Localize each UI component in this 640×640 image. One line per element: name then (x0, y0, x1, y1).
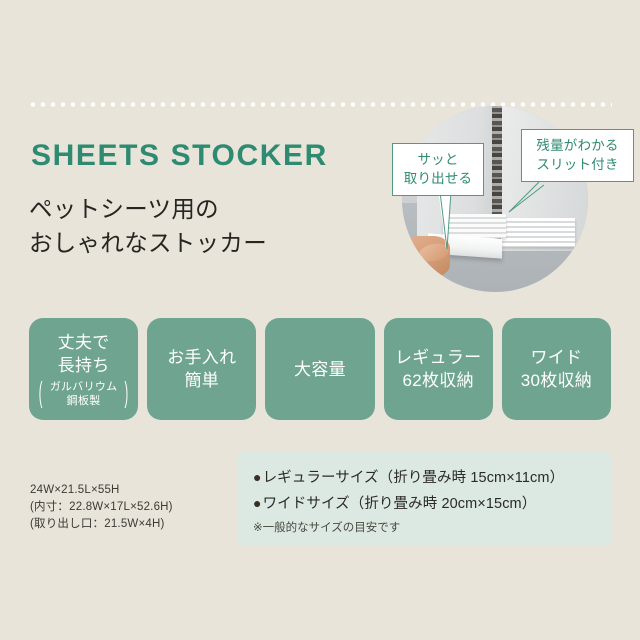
bullet-icon: ● (253, 495, 262, 511)
badge-wide-line-1: ワイド (530, 346, 582, 369)
subtitle-line-2: おしゃれなストッカー (29, 226, 267, 260)
subtitle-line-1: ペットシーツ用の (29, 192, 267, 226)
badge-wide-line-2: 30枚収納 (521, 369, 592, 392)
info-line-regular: ●レギュラーサイズ（折り畳み時 15cm×11cm） (253, 465, 611, 491)
callout-right-line-1: 残量がわかる (531, 136, 624, 155)
callout-right-line-2: スリット付き (531, 155, 624, 174)
info-note: ※一般的なサイズの目安です (253, 519, 611, 537)
badge-durable-line-1: 丈夫で (58, 331, 110, 354)
badge-large-capacity-line-1: 大容量 (294, 358, 346, 381)
product-banner: SHEETS STOCKER ペットシーツ用の おしゃれなストッカー サッと 取… (0, 0, 640, 640)
callout-quick-take-out: サッと 取り出せる (392, 143, 484, 196)
badge-regular-62: レギュラー 62枚収納 (384, 318, 493, 420)
page-subtitle: ペットシーツ用の おしゃれなストッカー (29, 192, 267, 260)
badge-durable-sub-line-1: ガルバリウム (50, 380, 118, 394)
size-info-panel: ●レギュラーサイズ（折り畳み時 15cm×11cm） ●ワイドサイズ（折り畳み時… (238, 452, 611, 545)
badge-easy-care: お手入れ 簡単 (147, 318, 256, 420)
callout-left-line-1: サッと (402, 150, 474, 169)
bullet-icon: ● (253, 469, 262, 485)
badge-durable-line-2: 長持ち (58, 354, 110, 377)
dimension-spec: 24W×21.5L×55H (内寸：22.8W×17L×52.6H) (取り出し… (30, 482, 173, 533)
badge-regular-line-1: レギュラー (395, 346, 482, 369)
feature-badge-row: 丈夫で 長持ち ガルバリウム 鋼板製 お手入れ 簡単 大容量 レギュラー 62枚… (29, 318, 611, 420)
callout-left-line-2: 取り出せる (402, 169, 474, 188)
callout-remaining-amount-slit: 残量がわかる スリット付き (521, 129, 634, 182)
photo-sheet-stack-right (501, 218, 575, 248)
spec-line-1: 24W×21.5L×55H (30, 482, 173, 499)
badge-durable-sub-line-2: 鋼板製 (50, 394, 118, 408)
page-title: SHEETS STOCKER (31, 139, 328, 173)
badge-regular-line-2: 62枚収納 (403, 369, 474, 392)
badge-durable: 丈夫で 長持ち ガルバリウム 鋼板製 (29, 318, 138, 420)
spec-line-3: (取り出し口：21.5W×4H) (30, 516, 173, 533)
info-line-wide: ●ワイドサイズ（折り畳み時 20cm×15cm） (253, 491, 611, 517)
badge-durable-sub: ガルバリウム 鋼板製 (37, 380, 131, 408)
badge-easy-care-line-1: お手入れ (167, 346, 236, 369)
info-line-regular-text: レギュラーサイズ（折り畳み時 15cm×11cm） (263, 470, 565, 486)
badge-easy-care-line-2: 簡単 (185, 369, 220, 392)
badge-large-capacity: 大容量 (265, 318, 374, 420)
info-line-wide-text: ワイドサイズ（折り畳み時 20cm×15cm） (263, 496, 537, 512)
badge-wide-30: ワイド 30枚収納 (502, 318, 611, 420)
spec-line-2: (内寸：22.8W×17L×52.6H) (30, 499, 173, 516)
